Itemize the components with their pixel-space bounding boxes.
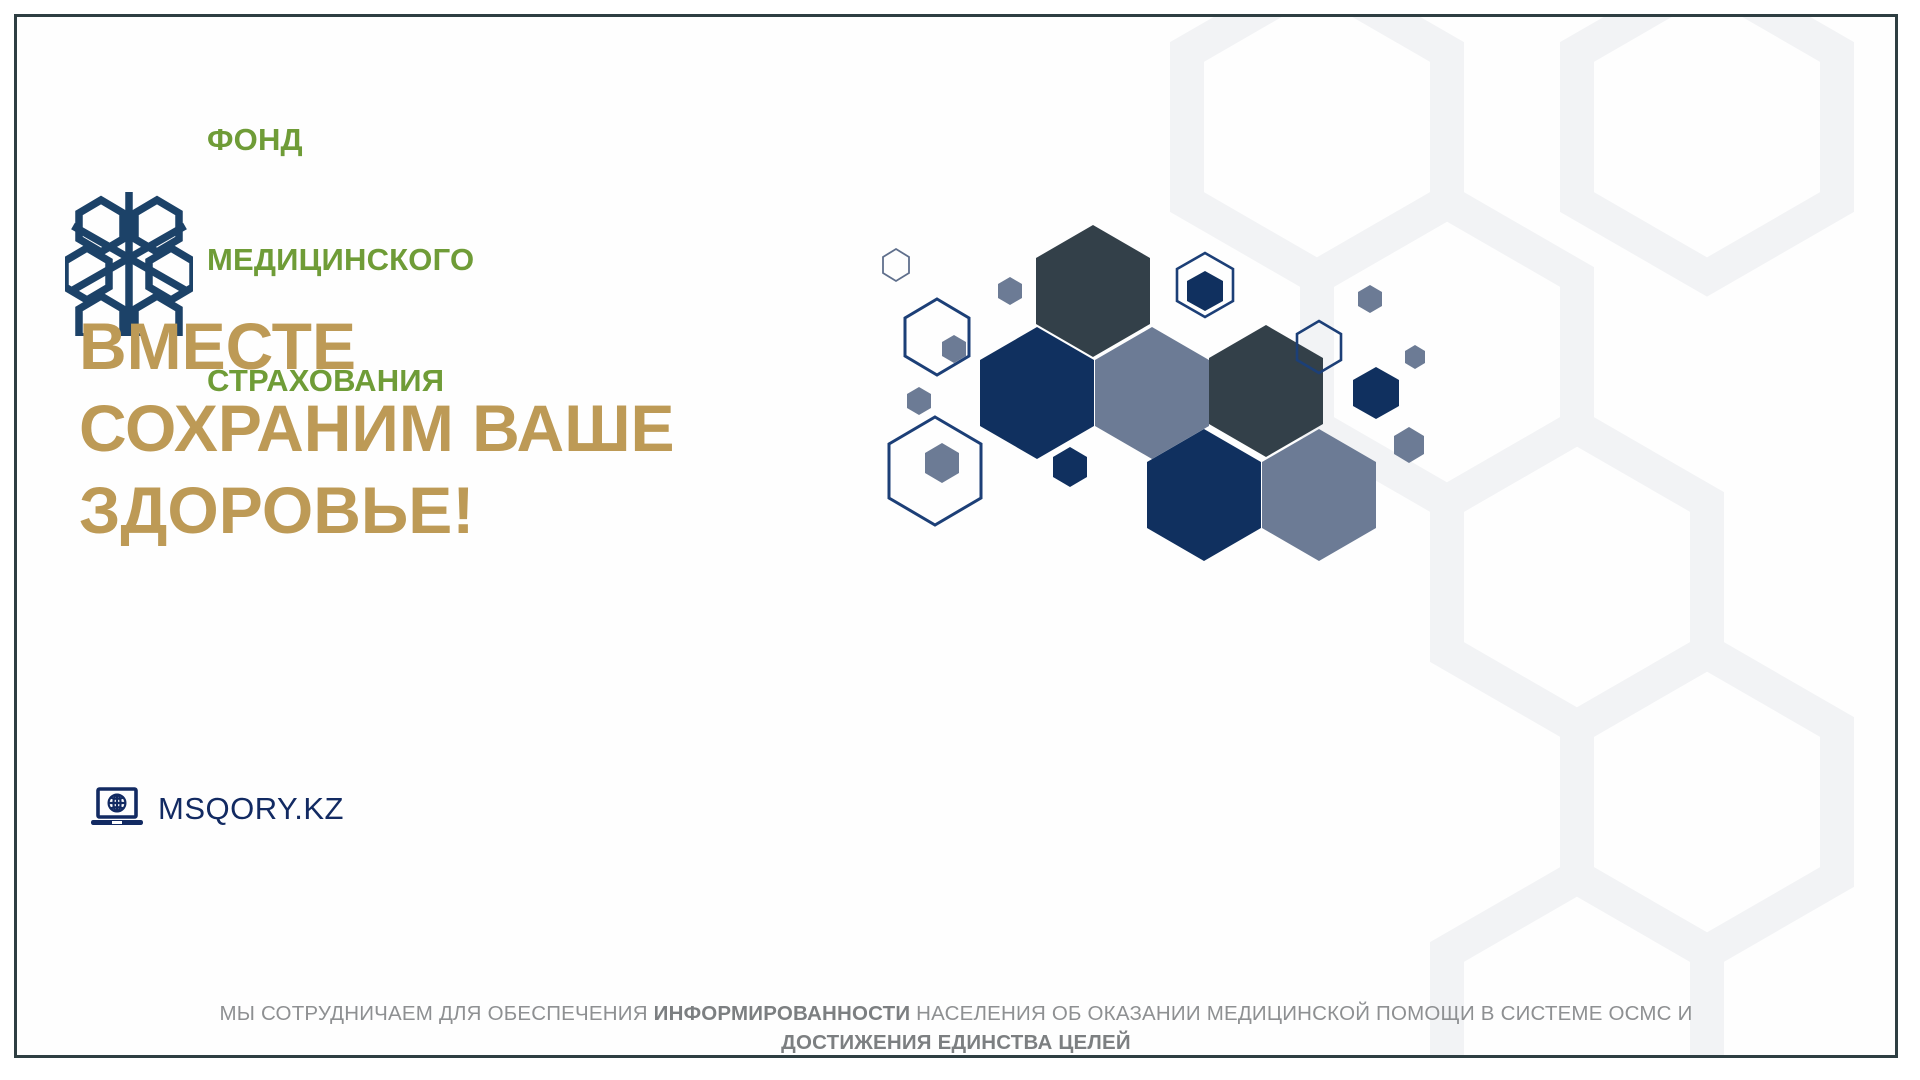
hex-filled-small-navy-bottom	[1053, 447, 1087, 487]
hexagon-decoration-cluster	[857, 207, 1477, 577]
hex-outline-small-gray	[883, 249, 909, 281]
logo-line-1: ФОНД	[207, 120, 474, 160]
slide-canvas: ФОНД МЕДИЦИНСКОГО СТРАХОВАНИЯ ВМЕСТЕ СОХ…	[0, 0, 1920, 1080]
footer-line1-bold: ИНФОРМИРОВАННОСТИ	[654, 1002, 911, 1025]
hex-filled-small-slate	[925, 443, 959, 483]
headline-line-3: ЗДОРОВЬЕ!	[79, 470, 839, 552]
laptop-globe-icon	[90, 787, 144, 831]
headline-line-1: ВМЕСТЕ	[79, 306, 839, 388]
hex-filled-tiny-slate-e	[1405, 345, 1425, 369]
website-label: MSQORY.KZ	[158, 791, 344, 827]
footer-line1-part1: МЫ СОТРУДНИЧАЕМ ДЛЯ ОБЕСПЕЧЕНИЯ	[219, 1002, 653, 1025]
slide-frame-border: ФОНД МЕДИЦИНСКОГО СТРАХОВАНИЯ ВМЕСТЕ СОХ…	[14, 14, 1898, 1058]
hex-filled-medium-navy-far	[1353, 367, 1399, 419]
hex-filled-tiny-slate-b	[907, 387, 931, 415]
website-link[interactable]: MSQORY.KZ	[90, 787, 344, 831]
hex-outline-medium-navy	[905, 299, 969, 375]
hex-filled-tiny-slate-d	[1358, 285, 1382, 313]
hex-filled-small-slate-far	[1394, 427, 1424, 463]
page-title: ВМЕСТЕ СОХРАНИМ ВАШЕ ЗДОРОВЬЕ!	[79, 306, 839, 551]
headline-line-2: СОХРАНИМ ВАШЕ	[79, 388, 839, 470]
logo-line-2: МЕДИЦИНСКОГО	[207, 240, 474, 280]
footer-tagline: МЫ СОТРУДНИЧАЕМ ДЛЯ ОБЕСПЕЧЕНИЯ ИНФОРМИР…	[77, 999, 1835, 1057]
footer-line2-bold: ДОСТИЖЕНИЯ ЕДИНСТВА ЦЕЛЕЙ	[781, 1031, 1131, 1054]
hex-filled-tiny-slate-c	[998, 277, 1022, 305]
hex-filled-small-navy-inner	[1187, 271, 1223, 311]
footer-line1-part2: НАСЕЛЕНИЯ ОБ ОКАЗАНИИ МЕДИЦИНСКОЙ ПОМОЩИ…	[910, 1002, 1692, 1025]
